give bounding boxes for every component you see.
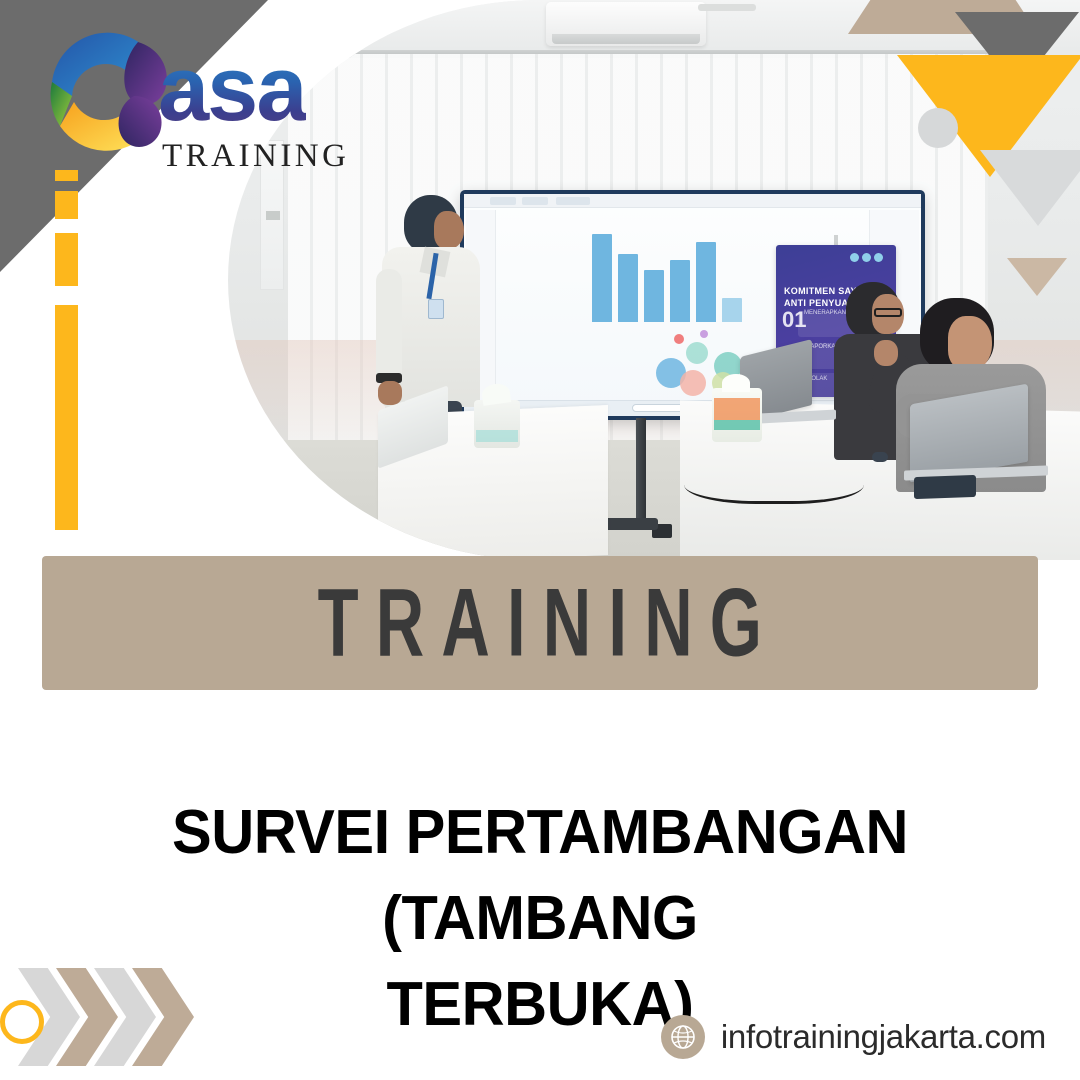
presenter-badge — [428, 299, 444, 319]
participant-hand — [874, 340, 898, 366]
bar — [644, 270, 664, 322]
display-stand-pole — [636, 418, 646, 530]
bar — [618, 254, 638, 322]
bar-chart — [592, 226, 752, 322]
brand-tagline: TRAINING — [162, 138, 349, 175]
training-banner-label: TRAINING — [301, 568, 780, 679]
participant-face — [948, 316, 992, 370]
air-conditioner-vent — [552, 34, 700, 44]
website-url[interactable]: infotrainingjakarta.com — [721, 1018, 1046, 1056]
presenter-face — [434, 211, 464, 249]
toolbar-tab — [490, 197, 516, 205]
website-footer[interactable]: infotrainingjakarta.com — [661, 1014, 1046, 1060]
tissue-box — [712, 388, 762, 442]
banner-dot — [874, 253, 883, 262]
bar — [722, 298, 742, 322]
training-banner: TRAINING — [42, 556, 1038, 690]
toolbar-tab — [522, 197, 548, 205]
bubble — [686, 342, 708, 364]
bubble — [700, 330, 708, 338]
page-title-line-1: SURVEI PERTAMBANGAN (TAMBANG — [33, 790, 1047, 962]
banner-dot — [862, 253, 871, 262]
toolbar-tab — [556, 197, 590, 205]
yellow-circle-decoration — [0, 1000, 44, 1044]
bar — [670, 260, 690, 322]
bar — [592, 234, 612, 322]
poster-canvas: KOMITMEN SAYAANTI PENYUAPAN 01 MENERAPKA… — [0, 0, 1080, 1080]
bubble — [680, 370, 706, 396]
bubble — [674, 334, 684, 344]
brand-logo[interactable]: asa TRAINING — [30, 16, 360, 176]
tissue-box — [474, 400, 520, 448]
dash-mark-2 — [55, 191, 78, 219]
brand-name: asa — [158, 50, 306, 129]
dash-mark-4 — [55, 305, 78, 530]
globe-icon — [661, 1015, 705, 1059]
air-conditioner-pipe — [698, 4, 756, 11]
smartphone — [914, 475, 976, 499]
mouse — [872, 452, 888, 462]
gray-circle-decoration — [918, 108, 958, 148]
banner-dot — [850, 253, 859, 262]
dash-mark-1 — [55, 170, 78, 181]
chevron-decoration — [18, 968, 198, 1066]
dash-mark-3 — [55, 233, 78, 286]
bar — [696, 242, 716, 322]
banner-step-number: 01 — [782, 307, 806, 333]
light-triangle-decoration — [980, 150, 1080, 226]
cable — [684, 456, 864, 504]
presenter-arm — [376, 269, 402, 385]
small-tan-triangle-decoration — [1007, 258, 1067, 296]
presenter-hand — [378, 381, 402, 405]
